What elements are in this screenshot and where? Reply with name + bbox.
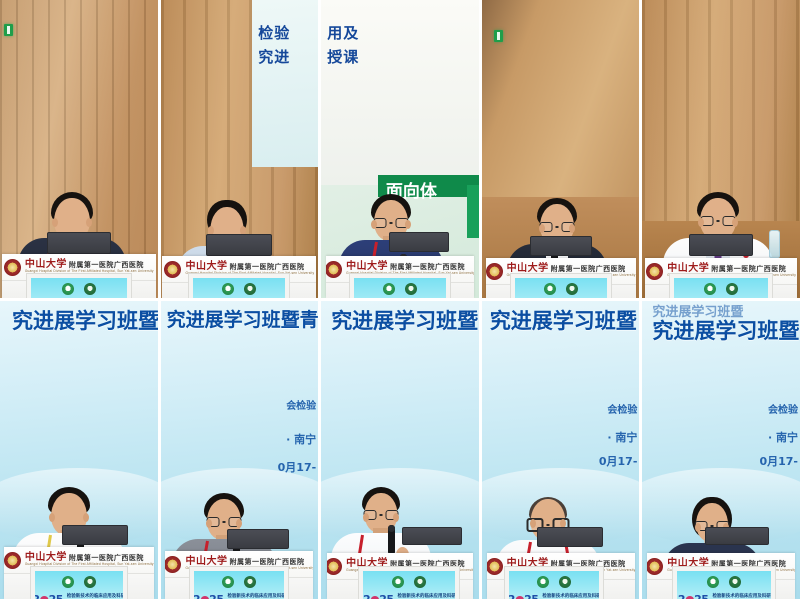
society-logo-icon: [704, 283, 716, 295]
event-year: 2●25: [508, 593, 539, 599]
society-logo-icon: [544, 283, 556, 295]
nameplate-header: 2●25 检验新技术的临床应用及科研 交流展学习班暨青年授课比赛: [32, 593, 125, 599]
university-seal-icon: [486, 263, 503, 280]
banner-text-block: 中山大学附属第一医院广西医院 Guangxi Hospital Division…: [25, 260, 154, 273]
photo-cell-1[interactable]: 中山大学附属第一医院广西医院 Guangxi Hospital Division…: [0, 0, 158, 298]
event-title-line1: 检验新技术的临床应用及科研: [398, 593, 456, 599]
nameplate-poster: 2●25 检验新技术的临床应用及科研 交流展学习班暨青年授课比赛 陈泽凤: [673, 567, 775, 599]
hospital-logo-icon: [414, 576, 426, 588]
laptop: [62, 525, 128, 545]
nameplate-logos: [537, 576, 571, 588]
university-seal-icon: [327, 558, 342, 575]
screen-banner-title: 究进展学习班暨: [331, 305, 478, 335]
side-text-right-3: 0月17-: [278, 459, 317, 475]
ear-left: [530, 519, 536, 528]
side-text-right-1: 会检验: [607, 401, 637, 416]
ear-right: [393, 513, 399, 522]
side-text-right-1: 会检验: [768, 401, 798, 416]
laptop: [206, 234, 272, 256]
university-seal-icon: [4, 259, 21, 276]
hospital-logo-icon: [84, 283, 96, 295]
photo-cell-8[interactable]: 究进展学习班暨 中山大学附属第一医院广西医院 Guangxi Hospital …: [321, 301, 479, 599]
nameplate-poster: 2●25 检验新技术的临床应用及科研 交流展学习班暨青年授课比赛 黄梅: [189, 274, 289, 298]
laptop: [402, 527, 462, 545]
society-logo-icon: [383, 283, 395, 295]
university-seal-icon: [164, 261, 181, 278]
screen-banner-title: 究进展学习班暨: [490, 305, 637, 335]
ear-right: [732, 218, 738, 227]
event-title-line1: 检验新技术的临床应用及科研: [67, 593, 125, 599]
water-bottle: [769, 230, 780, 258]
university-seal-icon: [165, 556, 181, 573]
society-logo-icon: [62, 576, 74, 588]
ear-left: [49, 513, 55, 522]
side-text-right-3: 0月17-: [599, 453, 638, 469]
society-logo-icon: [392, 576, 404, 588]
microphone-icon: [388, 525, 395, 555]
side-text-right-2: · 南宁: [768, 429, 798, 445]
photo-cell-5[interactable]: 中山大学附属第一医院广西医院 Guangxi Hospital Division…: [642, 0, 800, 298]
right-text-fragment: [142, 420, 158, 599]
nameplate-logos: [62, 576, 96, 588]
ear-left: [206, 519, 212, 528]
hospital-logo-icon: [244, 576, 256, 588]
event-title-lines: 检验新技术的临床应用及科研 交流展学习班暨青年授课比赛: [227, 593, 285, 599]
screen-text-line-c: 用及: [327, 22, 359, 43]
event-year: 2●25: [32, 593, 63, 599]
eyeglasses-icon: [701, 216, 736, 226]
side-text-right-1: 会检验: [286, 397, 316, 412]
ear-right: [405, 220, 411, 229]
nameplate-header: 2●25 检验新技术的临床应用及科研 交流展学习班暨青年授课比赛: [363, 593, 456, 599]
university-seal-icon: [326, 261, 342, 278]
exit-sign-icon: [494, 30, 503, 42]
photo-cell-7[interactable]: 究进展学习班暨青 中山大学附属第一医院广西医院 Guangxi Hospital…: [161, 301, 319, 599]
laptop: [689, 234, 753, 256]
event-year: 2●25: [363, 593, 394, 599]
hospital-logo-icon: [244, 283, 256, 295]
laptop: [530, 236, 592, 256]
ear-left: [371, 220, 377, 229]
society-logo-icon: [62, 283, 74, 295]
university-seal-icon: [487, 558, 503, 575]
society-logo-icon: [707, 576, 719, 588]
screen-banner-title: 究进展学习班暨青: [167, 305, 319, 332]
screen-text-line-a: 检验: [258, 22, 290, 43]
ear-right: [83, 513, 89, 522]
eyeglasses-icon: [373, 218, 408, 228]
nameplate-poster: 2●25 检验新技术的临床应用及科研 交流展学习班暨青年授课比赛 吕万喜: [27, 274, 131, 298]
nameplate-logos: [544, 283, 578, 295]
green-panel: [467, 185, 479, 239]
nameplate-header: 2●25 检验新技术的临床应用及科研 交流展学习班暨青年授课比赛: [508, 593, 601, 599]
event-title-lines: 检验新技术的临床应用及科研 交流展学习班暨青年授课比赛: [398, 593, 456, 599]
ear-left: [539, 224, 545, 233]
photo-cell-9[interactable]: 究进展学习班暨 中山大学附属第一医院广西医院 Guangxi Hospital …: [482, 301, 640, 599]
nameplate-poster: 2●25 检验新技术的临床应用及科研 交流展学习班暨青年授课比赛 甘文佳: [190, 567, 288, 599]
ear-left: [52, 218, 58, 227]
photo-cell-6[interactable]: 究进展学习班暨 中山大学附属第一医院广西医院 Guangxi Hospital …: [0, 301, 158, 599]
nameplate-logos: [222, 576, 256, 588]
event-title-lines: 检验新技术的临床应用及科研 交流展学习班暨青年授课比赛: [712, 593, 770, 599]
photo-cell-10[interactable]: 究进展学习班暨 究进展学习班暨 中山大学附属第一医院广西医院 Guangxi H…: [642, 301, 800, 599]
ear-left: [695, 523, 701, 532]
event-year: 2●25: [193, 593, 224, 599]
photo-cell-3[interactable]: 用及 授课 面向体 中山大学附属第一医院广西医院 Guangxi Hosp: [321, 0, 479, 298]
exit-sign-icon: [4, 24, 13, 36]
society-logo-icon: [222, 576, 234, 588]
screen-banner-title: 究进展学习班暨: [652, 315, 799, 345]
laptop: [705, 527, 769, 545]
nameplate-header: 2●25 检验新技术的临床应用及科研 交流展学习班暨青年授课比赛: [678, 593, 771, 599]
event-title-line1: 检验新技术的临床应用及科研: [712, 593, 770, 599]
side-text-right-2: · 南宁: [607, 429, 637, 445]
nameplate-poster: 2●25 检验新技术的临床应用及科研 交流展学习班暨青年授课比赛 韦彩周: [505, 567, 603, 599]
ear-left: [363, 513, 369, 522]
nameplate-poster: 2●25 检验新技术的临床应用及科研 交流展学习班暨青年授课比赛 袁育林: [31, 567, 127, 599]
hospital-logo-icon: [729, 576, 741, 588]
society-logo-icon: [222, 283, 234, 295]
nameplate-logos: [707, 576, 741, 588]
ear-right: [236, 519, 242, 528]
society-logo-icon: [537, 576, 549, 588]
nameplate-logos: [222, 283, 256, 295]
hospital-logo-icon: [559, 576, 571, 588]
hospital-logo-icon: [726, 283, 738, 295]
photo-collage-grid: 中山大学附属第一医院广西医院 Guangxi Hospital Division…: [0, 0, 800, 599]
nameplate-header: 2●25 检验新技术的临床应用及科研 交流展学习班暨青年授课比赛: [193, 593, 286, 599]
event-title-lines: 检验新技术的临床应用及科研 交流展学习班暨青年授课比赛: [67, 593, 125, 599]
screen-text-line-b: 究进: [258, 46, 290, 67]
event-title-line1: 检验新技术的临床应用及科研: [542, 593, 600, 599]
screen-banner-title: 究进展学习班暨: [12, 305, 158, 335]
nameplate-poster: 2●25 检验新技术的临床应用及科研 交流展学习班暨青年授课比赛 王凯: [350, 274, 450, 298]
photo-cell-2[interactable]: 检验 究进 中山大学附属第一医院广西医院 Guangxi Hospital Di…: [161, 0, 319, 298]
university-seal-icon: [4, 552, 21, 569]
nameplate-logos: [392, 576, 426, 588]
hospital-logo-icon: [566, 283, 578, 295]
university-seal-icon: [646, 263, 663, 280]
screen-text-line-d: 授课: [327, 46, 359, 67]
hospital-logo-icon: [405, 283, 417, 295]
ear-right: [569, 224, 575, 233]
side-text-right-3: 0月17-: [759, 453, 798, 469]
university-seal-icon: [647, 558, 663, 575]
event-title-line1: 检验新技术的临床应用及科研: [227, 593, 285, 599]
side-text-right-2: · 南宁: [286, 431, 316, 447]
nameplate-logos: [383, 283, 417, 295]
hospital-logo-icon: [84, 576, 96, 588]
nameplate-poster: 2●25 检验新技术的临床应用及科研 交流展学习班暨青年授课比赛 王科科: [670, 274, 772, 298]
event-year: 2●25: [678, 593, 709, 599]
nameplate-logos: [62, 283, 96, 295]
ear-left: [698, 218, 704, 227]
photo-cell-4[interactable]: 中山大学附属第一医院广西医院 Guangxi Hospital Division…: [482, 0, 640, 298]
ear-right: [86, 218, 92, 227]
laptop: [389, 232, 449, 252]
nameplate-poster: 2●25 检验新技术的临床应用及科研 交流展学习班暨青年授课比赛 王锐智: [359, 567, 459, 599]
laptop: [47, 232, 111, 254]
laptop: [537, 527, 603, 547]
nameplate-logos: [704, 283, 738, 295]
nameplate-poster: 2●25 检验新技术的临床应用及科研 交流展学习班暨青年授课比赛 王妍: [511, 274, 611, 298]
laptop: [227, 529, 289, 549]
banner-text-block: 中山大学附属第一医院广西医院 Guangxi Hospital Division…: [25, 553, 154, 566]
event-title-lines: 检验新技术的临床应用及科研 交流展学习班暨青年授课比赛: [542, 593, 600, 599]
